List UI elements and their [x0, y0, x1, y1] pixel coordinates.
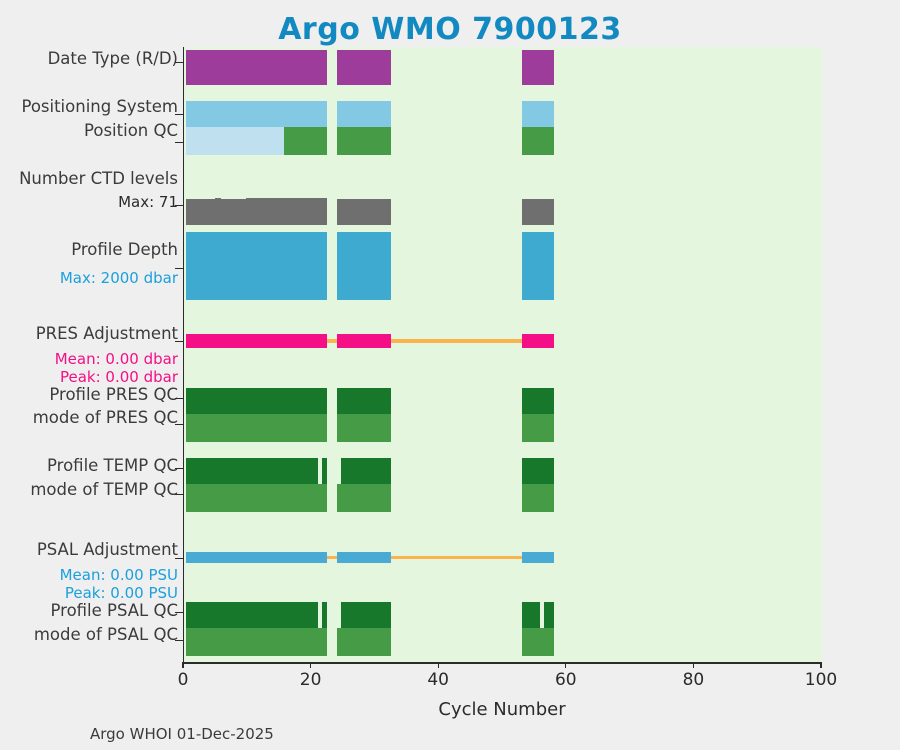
- y-tick-5: [175, 341, 183, 342]
- row-label-mode-temp-qc: mode of TEMP QC: [30, 482, 178, 499]
- x-tick-80: [693, 662, 694, 668]
- y-tick-1: [175, 114, 183, 115]
- row-label-profile-temp-qc: Profile TEMP QC: [47, 458, 178, 475]
- y-tick-4: [175, 268, 183, 269]
- x-tick-40: [438, 662, 439, 668]
- x-tick-60: [565, 662, 566, 668]
- y-tick-6: [175, 398, 183, 399]
- row-label-mode-pres-qc: mode of PRES QC: [33, 410, 178, 427]
- row-label-ctd-levels: Number CTD levels: [19, 171, 178, 188]
- row-sublabel-pres-adjustment-0: Mean: 0.00 dbar: [55, 352, 178, 367]
- y-tick-2: [175, 142, 183, 143]
- y-tick-8: [175, 468, 183, 469]
- row-sublabel-profile-depth-0: Max: 2000 dbar: [60, 271, 178, 286]
- row-sublabel-pres-adjustment-1: Peak: 0.00 dbar: [60, 370, 178, 385]
- row-label-pres-adjustment: PRES Adjustment: [36, 326, 178, 343]
- row-label-mode-psal-qc: mode of PSAL QC: [34, 627, 178, 644]
- y-tick-3: [175, 205, 183, 206]
- x-axis-line: [183, 662, 821, 664]
- x-tick-label-80: 80: [683, 670, 705, 690]
- row-label-positioning: Positioning System: [21, 99, 178, 116]
- x-tick-label-0: 0: [178, 670, 189, 690]
- x-tick-100: [820, 662, 821, 668]
- row-sublabel-ctd-levels-0: Max: 71: [118, 195, 178, 210]
- x-tick-label-60: 60: [555, 670, 577, 690]
- x-tick-label-100: 100: [805, 670, 837, 690]
- y-tick-12: [175, 640, 183, 641]
- x-tick-0: [182, 662, 183, 668]
- y-tick-10: [175, 558, 183, 559]
- plot-area: [183, 47, 822, 662]
- x-axis-label: Cycle Number: [183, 699, 821, 720]
- row-label-date-type: Date Type (R/D): [48, 51, 178, 68]
- x-tick-20: [310, 662, 311, 668]
- row-label-psal-adjustment: PSAL Adjustment: [37, 542, 178, 559]
- y-tick-11: [175, 612, 183, 613]
- x-tick-label-20: 20: [300, 670, 322, 690]
- row-sublabel-psal-adjustment-1: Peak: 0.00 PSU: [65, 586, 178, 601]
- y-tick-7: [175, 424, 183, 425]
- y-tick-0: [175, 62, 183, 63]
- argo-summary-figure: Argo WMO 7900123 Date Type (R/D)Position…: [0, 0, 900, 750]
- row-label-position-qc: Position QC: [84, 123, 178, 140]
- row-label-profile-pres-qc: Profile PRES QC: [49, 387, 178, 404]
- x-tick-label-40: 40: [427, 670, 449, 690]
- row-label-profile-depth: Profile Depth: [71, 242, 178, 259]
- row-label-profile-psal-qc: Profile PSAL QC: [50, 603, 178, 620]
- footer-credit: Argo WHOI 01-Dec-2025: [90, 725, 274, 743]
- row-sublabel-psal-adjustment-0: Mean: 0.00 PSU: [60, 568, 178, 583]
- page-title: Argo WMO 7900123: [0, 12, 900, 47]
- y-tick-9: [175, 494, 183, 495]
